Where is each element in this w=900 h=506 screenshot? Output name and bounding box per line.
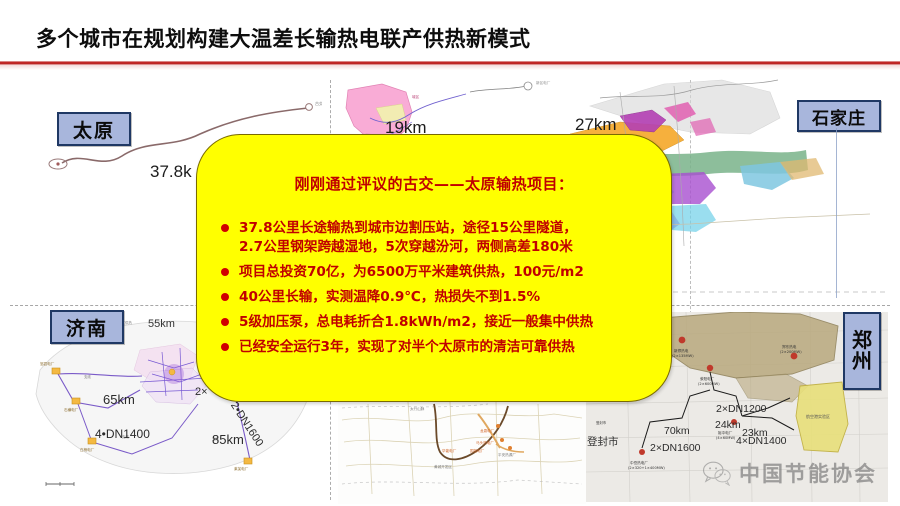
bullet-line-1: 已经安全运行3年，实现了对半个太原市的清洁可靠供热	[239, 339, 575, 355]
bullet-dot-icon	[221, 293, 229, 301]
svg-text:新区电厂: 新区电厂	[536, 80, 551, 85]
svg-text:平安热源厂: 平安热源厂	[498, 452, 516, 457]
map-panel-road-network: 华能电厂 国投电厂 龙泉电厂 马头热电厂 太行山脉 黄城开发区 平安热源厂	[338, 396, 586, 504]
bullet-dot-icon	[221, 268, 229, 276]
callout-bullet-item: 5级加压泵，总电耗折合1.8kWh/m2，接近一般集中供热	[219, 313, 659, 332]
bullet-line-1: 37.8公里长途输热到城市边割压站，途径15公里隧道，	[239, 220, 577, 236]
city-label-taiyuan: 太原	[57, 112, 131, 146]
bullet-line-1: 40公里长输，实测温降0.9℃，热损失不到1.5%	[239, 289, 540, 305]
svg-text:郑东热电: 郑东热电	[782, 344, 797, 349]
city-label-shijiazhuang: 石家庄	[797, 100, 881, 132]
bullet-line-2: 2.7公里钢架跨越湿地，5次穿越汾河，两侧高差180米	[239, 238, 659, 257]
svg-text:支线: 支线	[122, 434, 129, 439]
city-label-zhengzhou: 郑 州	[843, 312, 881, 390]
wechat-icon	[702, 460, 732, 486]
watermark-text: 中国节能协会	[739, 458, 877, 488]
city-label-jinan: 济南	[50, 310, 124, 344]
svg-text:(2×600MW): (2×600MW)	[698, 382, 720, 386]
bullet-dot-icon	[221, 224, 229, 232]
shijiazhuang-leader-line	[836, 128, 837, 298]
svg-text:城区: 城区	[412, 94, 420, 99]
callout-bullet-list: 37.8公里长途输热到城市边割压站，途径15公里隧道， 2.7公里钢架跨越湿地，…	[219, 219, 659, 363]
svg-text:太行山脉: 太行山脉	[410, 406, 425, 411]
svg-text:中岳热电厂: 中岳热电厂	[630, 460, 648, 465]
svg-text:华能电厂: 华能电厂	[442, 448, 457, 453]
svg-text:支线: 支线	[84, 374, 91, 379]
callout-bullet-item: 40公里长输，实测温降0.9℃，热损失不到1.5%	[219, 288, 659, 307]
bullet-line-1: 项目总投资70亿，为6500万平米建筑供热，100元/m2	[239, 264, 584, 280]
bullet-dot-icon	[221, 343, 229, 351]
svg-text:新郑热电: 新郑热电	[674, 348, 689, 353]
slide-header: 多个城市在规划构建大温差长输热电联产供热新模式	[0, 0, 900, 62]
callout-bullet-item: 项目总投资70亿，为6500万平米建筑供热，100元/m2	[219, 263, 659, 282]
svg-text:支线: 支线	[212, 436, 219, 441]
svg-text:裕中电厂: 裕中电厂	[718, 430, 733, 435]
svg-text:邹县电厂: 邹县电厂	[40, 361, 55, 366]
svg-text:航空港实验区: 航空港实验区	[806, 413, 830, 419]
city-label-zhengzhou-line1: 郑	[852, 330, 872, 351]
header-divider-shadow	[0, 65, 900, 70]
bullet-line-1: 5级加压泵，总电耗折合1.8kWh/m2，接近一般集中供热	[239, 314, 593, 330]
callout-bullet-item: 37.8公里长途输热到城市边割压站，途径15公里隧道， 2.7公里钢架跨越湿地，…	[219, 219, 659, 257]
callout-title: 刚刚通过评议的古交——太原输热项目：	[197, 173, 671, 194]
svg-text:龙泉电厂: 龙泉电厂	[480, 428, 495, 433]
svg-text:莱芜电厂: 莱芜电厂	[234, 466, 249, 471]
svg-text:白杨电厂: 白杨电厂	[80, 447, 95, 452]
svg-text:黄城开发区: 黄城开发区	[434, 464, 452, 469]
svg-text:石横电厂: 石横电厂	[64, 407, 79, 412]
svg-text:国投电厂: 国投电厂	[470, 448, 485, 453]
page-title: 多个城市在规划构建大温差长输热电联产供热新模式	[36, 23, 531, 53]
city-label-zhengzhou-line2: 州	[852, 351, 872, 372]
road-network-map: 华能电厂 国投电厂 龙泉电厂 马头热电厂 太行山脉 黄城开发区 平安热源厂	[338, 396, 586, 504]
svg-text:马头热电厂: 马头热电厂	[476, 440, 494, 445]
watermark: 中国节能协会	[702, 456, 877, 490]
svg-text:(4×60MW): (4×60MW)	[716, 436, 736, 440]
yellow-callout-box: 刚刚通过评议的古交——太原输热项目： 37.8公里长途输热到城市边割压站，途径1…	[196, 134, 672, 402]
callout-bullet-item: 已经安全运行3年，实现了对半个太原市的清洁可靠供热	[219, 338, 659, 357]
svg-text:古交电厂: 古交电厂	[315, 100, 322, 106]
svg-text:(2×200MW): (2×200MW)	[780, 350, 802, 354]
bullet-dot-icon	[221, 318, 229, 326]
svg-text:(2×320+1×400MW): (2×320+1×400MW)	[628, 466, 665, 470]
slide-canvas: 多个城市在规划构建大温差长输热电联产供热新模式 古交电厂	[0, 0, 900, 506]
svg-text:荥阳电厂: 荥阳电厂	[700, 376, 715, 381]
svg-text:登封市: 登封市	[596, 420, 607, 425]
svg-text:(2×135MW): (2×135MW)	[672, 354, 694, 358]
